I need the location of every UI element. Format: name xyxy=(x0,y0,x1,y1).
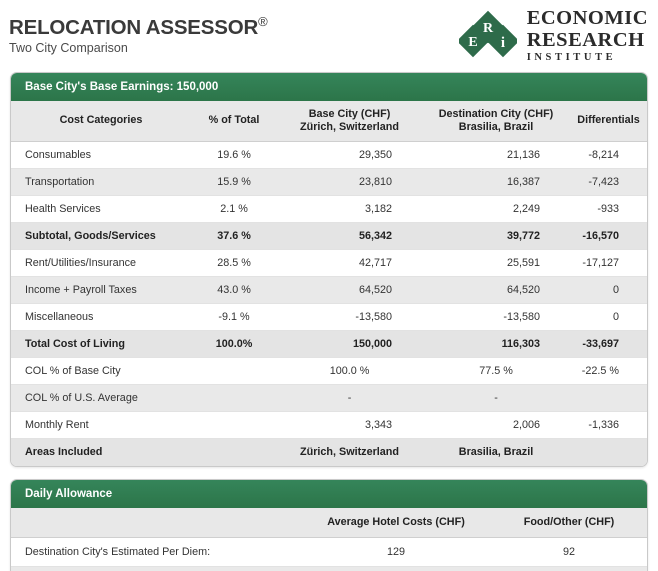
cell-differential: -16,570 xyxy=(570,223,647,250)
cell-food-other: 92 xyxy=(491,538,647,567)
svg-text:E: E xyxy=(468,35,477,50)
cell-base-city: 42,717 xyxy=(277,250,422,277)
list-item: ERI Shortfall Analysis00 xyxy=(11,567,647,571)
cell-differential xyxy=(570,385,647,412)
cell-differential: -7,423 xyxy=(570,169,647,196)
page-title: RELOCATION ASSESSOR® xyxy=(9,15,268,38)
cell-base-city: Zürich, Switzerland xyxy=(277,439,422,466)
col-header-average-hotel-costs: Average Hotel Costs (CHF) xyxy=(301,508,491,538)
svg-text:i: i xyxy=(501,35,505,51)
daily-allowance-table: Average Hotel Costs (CHF) Food/Other (CH… xyxy=(11,508,647,571)
col-header-allowance-blank xyxy=(11,508,301,538)
cell-pct-of-total: -9.1 % xyxy=(191,304,277,331)
cell-differential: -22.5 % xyxy=(570,358,647,385)
cell-allowance-label: Destination City's Estimated Per Diem: xyxy=(11,538,301,567)
cell-base-city: 3,343 xyxy=(277,412,422,439)
cell-destination-city: 25,591 xyxy=(422,250,570,277)
cell-destination-city: 21,136 xyxy=(422,142,570,169)
table-row: COL % of U.S. Average-- xyxy=(11,385,647,412)
registered-trademark-icon: ® xyxy=(258,14,268,29)
cell-cost-category: Health Services xyxy=(11,196,191,223)
cell-pct-of-total: 43.0 % xyxy=(191,277,277,304)
allowance-header-row: Average Hotel Costs (CHF) Food/Other (CH… xyxy=(11,508,647,538)
table-row: Subtotal, Goods/Services37.6 %56,34239,7… xyxy=(11,223,647,250)
table-row: Areas IncludedZürich, SwitzerlandBrasili… xyxy=(11,439,647,466)
col-header-food-other: Food/Other (CHF) xyxy=(491,508,647,538)
cell-differential: 0 xyxy=(570,304,647,331)
page-subtitle: Two City Comparison xyxy=(9,42,268,56)
table-row: Health Services2.1 %3,1822,249-933 xyxy=(11,196,647,223)
svg-text:R: R xyxy=(483,21,494,36)
table-row: Total Cost of Living100.0%150,000116,303… xyxy=(11,331,647,358)
cell-pct-of-total: 19.6 % xyxy=(191,142,277,169)
table-row: Monthly Rent3,3432,006-1,336 xyxy=(11,412,647,439)
cell-destination-city: Brasilia, Brazil xyxy=(422,439,570,466)
cell-cost-category: Income + Payroll Taxes xyxy=(11,277,191,304)
col-header-differentials: Differentials xyxy=(570,101,647,142)
table-row: Income + Payroll Taxes43.0 %64,52064,520… xyxy=(11,277,647,304)
cell-cost-category: Total Cost of Living xyxy=(11,331,191,358)
cell-allowance-label: ERI Shortfall Analysis xyxy=(11,567,301,571)
base-earnings-heading: Base City's Base Earnings: 150,000 xyxy=(11,73,647,101)
cell-destination-city: 77.5 % xyxy=(422,358,570,385)
cell-pct-of-total xyxy=(191,439,277,466)
cell-base-city: 3,182 xyxy=(277,196,422,223)
cell-destination-city: -13,580 xyxy=(422,304,570,331)
eri-logo: E R i ECONOMIC RESEARCH INSTITUTE xyxy=(459,7,648,64)
table-row: Rent/Utilities/Insurance28.5 %42,71725,5… xyxy=(11,250,647,277)
cell-average-hotel-cost: 0 xyxy=(301,567,491,571)
col-header-base-city: Base City (CHF) Zürich, Switzerland xyxy=(277,101,422,142)
logo-line-economic: ECONOMIC xyxy=(527,7,648,29)
cell-pct-of-total: 100.0% xyxy=(191,331,277,358)
cost-of-living-panel: Base City's Base Earnings: 150,000 Cost … xyxy=(10,72,648,467)
cell-differential xyxy=(570,439,647,466)
cell-destination-city: 16,387 xyxy=(422,169,570,196)
cell-base-city: 23,810 xyxy=(277,169,422,196)
page-title-text: RELOCATION ASSESSOR xyxy=(9,16,258,39)
cell-pct-of-total: 37.6 % xyxy=(191,223,277,250)
cell-pct-of-total: 15.9 % xyxy=(191,169,277,196)
cell-destination-city: - xyxy=(422,385,570,412)
cell-base-city: -13,580 xyxy=(277,304,422,331)
list-item: Destination City's Estimated Per Diem:12… xyxy=(11,538,647,567)
cell-average-hotel-cost: 129 xyxy=(301,538,491,567)
cell-destination-city: 2,006 xyxy=(422,412,570,439)
cell-cost-category: Subtotal, Goods/Services xyxy=(11,223,191,250)
cell-pct-of-total: 28.5 % xyxy=(191,250,277,277)
logo-line-institute: INSTITUTE xyxy=(527,53,648,64)
col-header-destination-city-sublabel: Brasilia, Brazil xyxy=(459,121,533,133)
table-row: Transportation15.9 %23,81016,387-7,423 xyxy=(11,169,647,196)
cell-destination-city: 116,303 xyxy=(422,331,570,358)
cell-base-city: 150,000 xyxy=(277,331,422,358)
cell-base-city: - xyxy=(277,385,422,412)
logo-line-research: RESEARCH xyxy=(527,29,648,51)
cell-pct-of-total xyxy=(191,412,277,439)
cell-destination-city: 2,249 xyxy=(422,196,570,223)
table-row: COL % of Base City100.0 %77.5 %-22.5 % xyxy=(11,358,647,385)
col-header-base-city-label: Base City (CHF) xyxy=(309,108,391,120)
cell-base-city: 29,350 xyxy=(277,142,422,169)
col-header-pct-of-total: % of Total xyxy=(191,101,277,142)
cost-of-living-table: Cost Categories % of Total Base City (CH… xyxy=(11,101,647,466)
cell-pct-of-total xyxy=(191,385,277,412)
title-block: RELOCATION ASSESSOR® Two City Comparison xyxy=(9,15,268,56)
cell-cost-category: Miscellaneous xyxy=(11,304,191,331)
table-header-row: Cost Categories % of Total Base City (CH… xyxy=(11,101,647,142)
cell-differential: -8,214 xyxy=(570,142,647,169)
col-header-destination-city: Destination City (CHF) Brasilia, Brazil xyxy=(422,101,570,142)
table-row: Consumables19.6 %29,35021,136-8,214 xyxy=(11,142,647,169)
cell-pct-of-total: 2.1 % xyxy=(191,196,277,223)
cell-cost-category: Transportation xyxy=(11,169,191,196)
eri-logo-text: ECONOMIC RESEARCH INSTITUTE xyxy=(527,7,648,64)
cell-differential: -933 xyxy=(570,196,647,223)
cell-cost-category: COL % of U.S. Average xyxy=(11,385,191,412)
cell-destination-city: 39,772 xyxy=(422,223,570,250)
col-header-destination-city-label: Destination City (CHF) xyxy=(439,108,554,120)
cell-food-other: 0 xyxy=(491,567,647,571)
col-header-cost-categories: Cost Categories xyxy=(11,101,191,142)
cell-cost-category: Areas Included xyxy=(11,439,191,466)
cell-base-city: 100.0 % xyxy=(277,358,422,385)
cell-differential: -1,336 xyxy=(570,412,647,439)
cell-cost-category: Consumables xyxy=(11,142,191,169)
cell-destination-city: 64,520 xyxy=(422,277,570,304)
cell-cost-category: Rent/Utilities/Insurance xyxy=(11,250,191,277)
report-header: RELOCATION ASSESSOR® Two City Comparison… xyxy=(0,0,658,72)
daily-allowance-panel: Daily Allowance Average Hotel Costs (CHF… xyxy=(10,479,648,571)
cell-differential: -17,127 xyxy=(570,250,647,277)
relocation-assessor-report: RELOCATION ASSESSOR® Two City Comparison… xyxy=(0,0,658,571)
cell-cost-category: COL % of Base City xyxy=(11,358,191,385)
eri-diamonds-logo-icon: E R i xyxy=(459,9,517,61)
daily-allowance-heading: Daily Allowance xyxy=(11,480,647,508)
cell-base-city: 56,342 xyxy=(277,223,422,250)
cell-differential: 0 xyxy=(570,277,647,304)
cell-differential: -33,697 xyxy=(570,331,647,358)
cell-base-city: 64,520 xyxy=(277,277,422,304)
cell-pct-of-total xyxy=(191,358,277,385)
cell-cost-category: Monthly Rent xyxy=(11,412,191,439)
col-header-base-city-sublabel: Zürich, Switzerland xyxy=(300,121,399,133)
table-row: Miscellaneous-9.1 %-13,580-13,5800 xyxy=(11,304,647,331)
